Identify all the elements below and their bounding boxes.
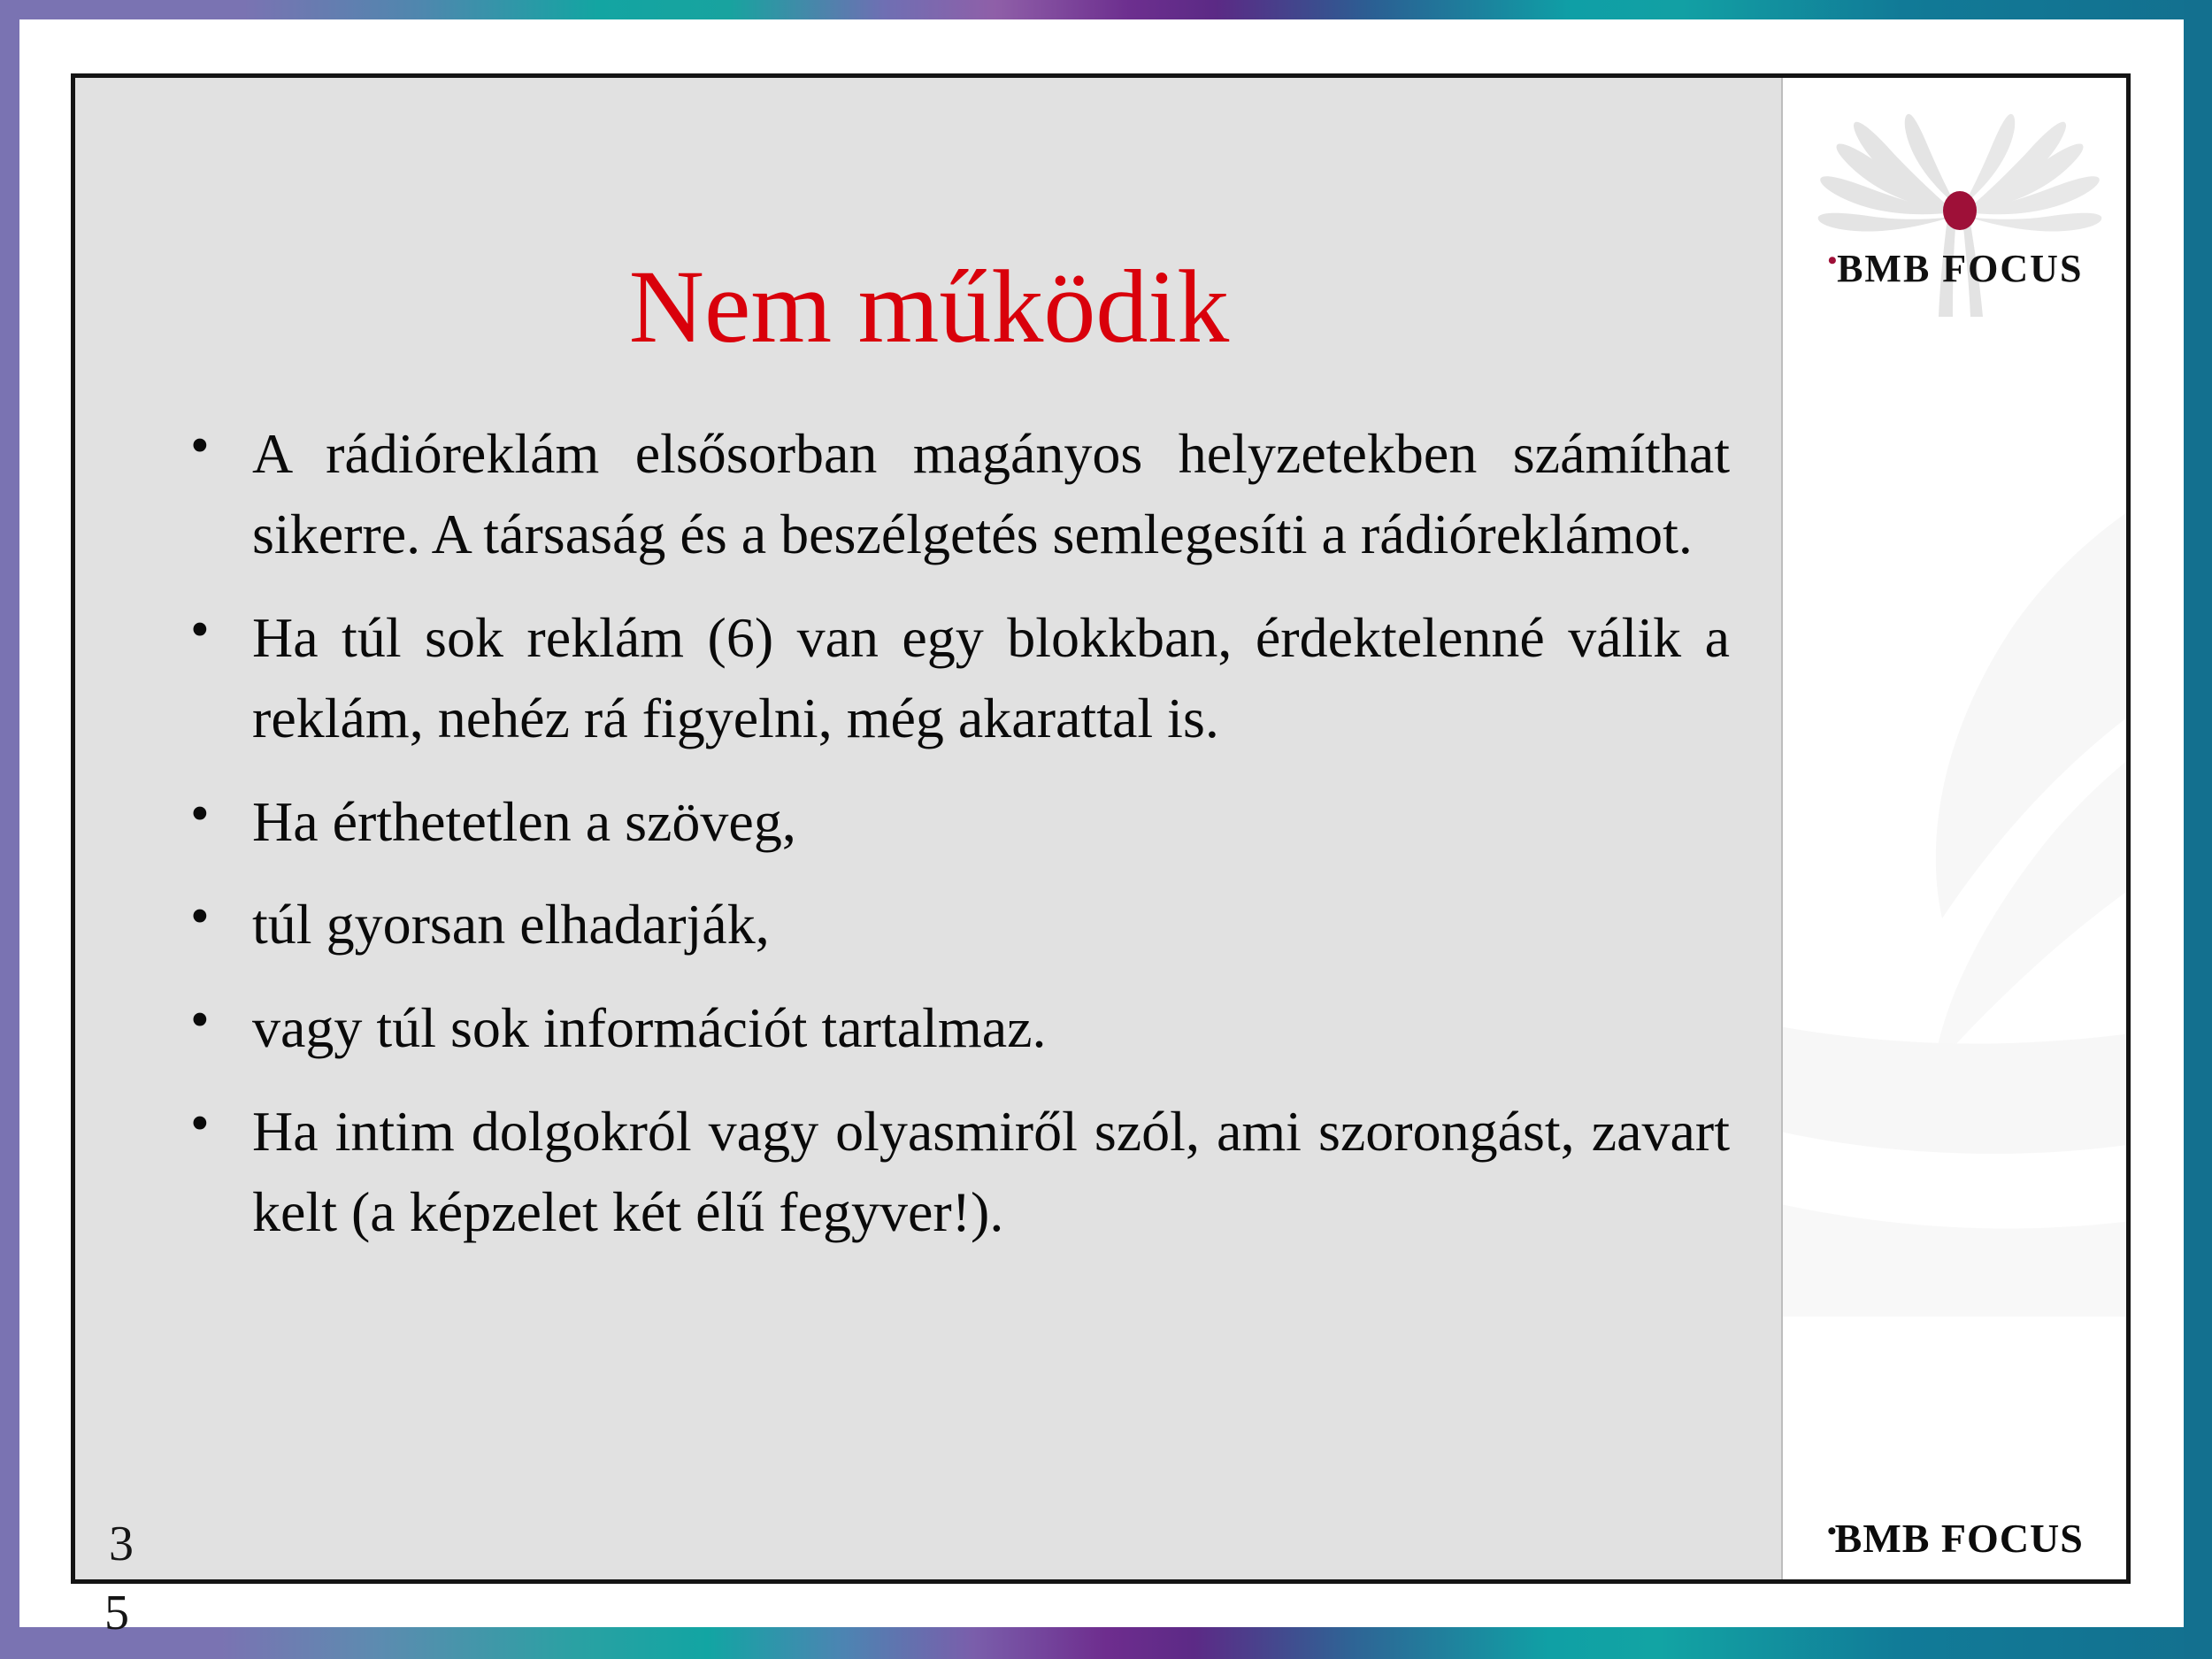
list-item: • Ha túl sok reklám (6) van egy blokkban… [75, 598, 1783, 759]
bullet-dot-icon: • [190, 600, 252, 661]
frame-left-bar [0, 0, 19, 1659]
page-number-upper: 3 [109, 1519, 134, 1569]
bullet-dot-icon: • [190, 887, 252, 948]
frame-bottom-gradient [0, 1627, 2212, 1659]
bullet-dot-icon: • [190, 1094, 252, 1155]
bullet-text: A rádióreklám elsősorban magányos helyze… [252, 414, 1730, 575]
list-item: • vagy túl sok információt tartalmaz. [75, 988, 1783, 1069]
bullet-dot-icon: • [190, 990, 252, 1051]
logo-wordmark-text: BMB FOCUS [1837, 247, 2083, 290]
list-item: • Ha érthetetlen a szöveg, [75, 782, 1783, 863]
frame-top-gradient [0, 0, 2212, 19]
bullet-text: Ha érthetetlen a szöveg, [252, 782, 1730, 863]
frond-watermark-icon [1781, 343, 2126, 1317]
bullet-text: Ha intim dolgokról vagy olyasmiről szól,… [252, 1092, 1730, 1253]
logo-wordmark: •BMB FOCUS [1783, 246, 2126, 291]
logo-panel: •BMB FOCUS •BMB FOCUS [1781, 78, 2126, 1579]
bullet-text: vagy túl sok információt tartalmaz. [252, 988, 1730, 1069]
logo-footer: •BMB FOCUS [1783, 1515, 2126, 1562]
frame-right-bar [2184, 0, 2212, 1659]
list-item: • túl gyorsan elhadarják, [75, 885, 1783, 965]
logo-accent-dot [1943, 191, 1977, 230]
list-item: • A rádióreklám elsősorban magányos hely… [75, 414, 1783, 575]
bullet-dot-icon: • [190, 784, 252, 845]
presentation-slide: Nem működik • A rádióreklám elsősorban m… [0, 0, 2212, 1659]
logo-footer-text: BMB FOCUS [1835, 1516, 2084, 1561]
bullet-text: Ha túl sok reklám (6) van egy blokkban, … [252, 598, 1730, 759]
bullet-list: • A rádióreklám elsősorban magányos hely… [75, 414, 1783, 1276]
bullet-dot-icon: • [190, 416, 252, 477]
slide-content-box: Nem működik • A rádióreklám elsősorban m… [71, 73, 2131, 1584]
page-number-lower: 5 [104, 1588, 129, 1638]
bullet-text: túl gyorsan elhadarják, [252, 885, 1730, 965]
slide-title: Nem működik [75, 255, 1783, 359]
list-item: • Ha intim dolgokról vagy olyasmiről szó… [75, 1092, 1783, 1253]
